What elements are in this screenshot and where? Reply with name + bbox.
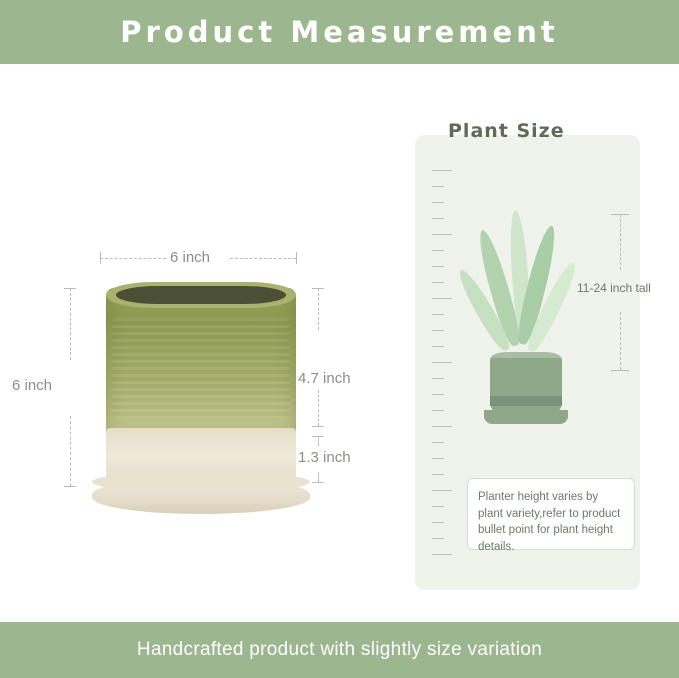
- pot-width-label: 6 inch: [170, 249, 210, 266]
- footer-band: Handcrafted product with slightly size v…: [0, 622, 679, 678]
- header-band: Product Measurement: [0, 0, 679, 64]
- plant-planter-band: [490, 396, 562, 406]
- saucer-dim-line-bottom: [318, 472, 319, 482]
- plant-height-cap-bottom: [611, 370, 629, 371]
- plant-planter-body: [490, 358, 562, 416]
- ceramic-pot: [106, 288, 296, 478]
- width-dim-cap-right: [296, 252, 297, 264]
- pot-body-height-label: 4.7 inch: [298, 370, 351, 387]
- pot-saucer-height-label: 1.3 inch: [298, 449, 351, 466]
- pot-total-height-label: 6 inch: [12, 377, 52, 394]
- height-dim-line-bottom: [70, 416, 71, 486]
- height-dim-cap-bottom: [64, 486, 76, 487]
- width-dim-line-left: [100, 258, 166, 259]
- page-title: Product Measurement: [120, 15, 558, 49]
- product-measurement-graphic: Product Measurement 6 inch 6 inch 4.7 in…: [0, 0, 679, 678]
- plant-height-line-bottom: [620, 312, 621, 370]
- plant-planter-saucer: [484, 410, 568, 424]
- pot-interior-opening: [116, 286, 286, 304]
- pot-illustration-area: 6 inch 6 inch 4.7 inch 1.3 inch: [40, 230, 390, 520]
- saucer-dim-line-top: [318, 436, 319, 446]
- height-dim-line-top: [70, 288, 71, 360]
- plant-size-title: Plant Size: [448, 120, 565, 142]
- pot-glazed-body: [106, 288, 296, 436]
- plant-height-note: Planter height varies by plant variety,r…: [467, 478, 635, 550]
- body-dim-cap-bottom: [312, 426, 324, 427]
- body-dim-line-top: [318, 288, 319, 330]
- plant-height-label: 11-24 inch tall: [577, 281, 651, 295]
- saucer-dim-cap-bottom: [312, 482, 324, 483]
- width-dim-line-right: [230, 258, 296, 259]
- ruler-graphic: [432, 170, 454, 570]
- footer-note: Handcrafted product with slightly size v…: [137, 639, 542, 661]
- plant-height-line-top: [620, 214, 621, 270]
- body-dim-line-bottom: [318, 390, 319, 426]
- snake-plant-illustration: [470, 210, 580, 430]
- pot-saucer-lip: [92, 474, 310, 490]
